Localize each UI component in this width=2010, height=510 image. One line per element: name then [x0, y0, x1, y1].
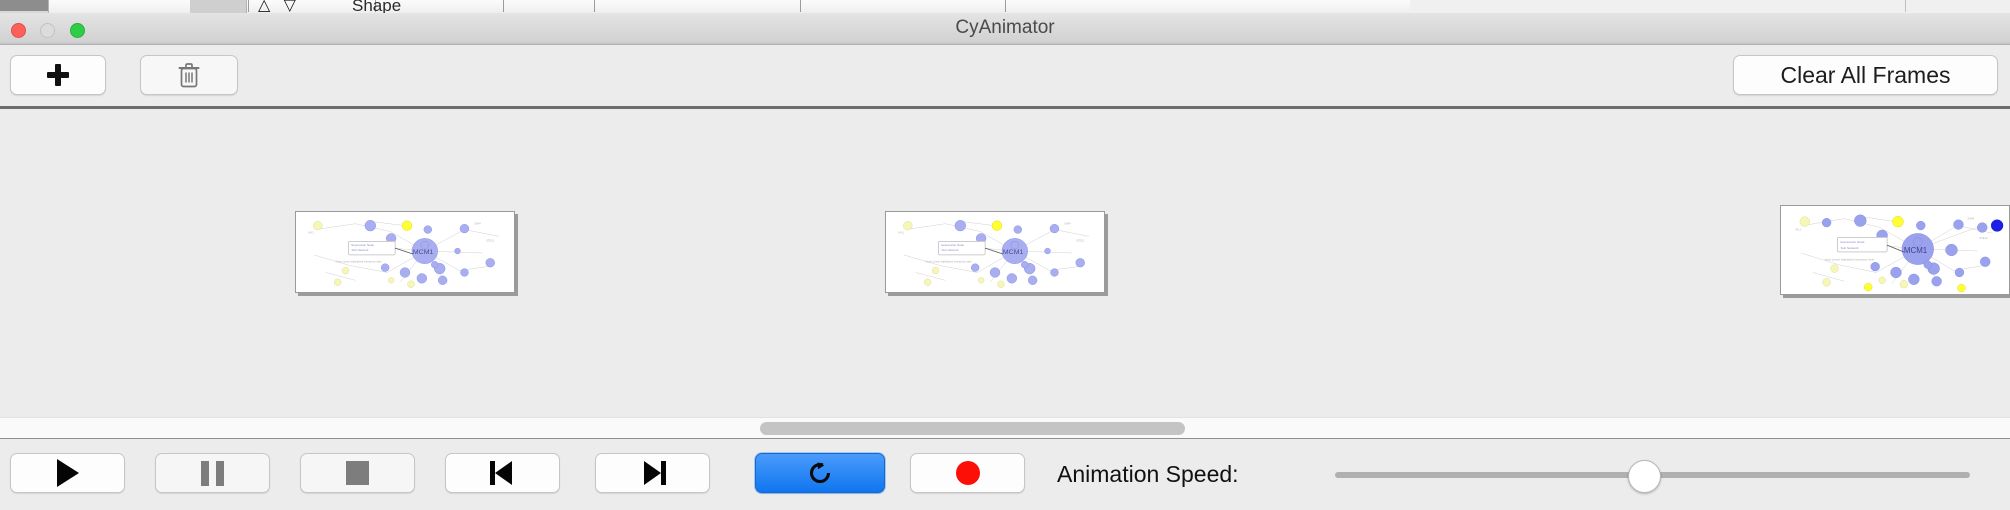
svg-text:STE12: STE12 — [1979, 236, 1988, 240]
skip-forward-button[interactable] — [595, 453, 710, 493]
skip-back-button[interactable] — [445, 453, 560, 493]
svg-text:MCM1: MCM1 — [1904, 246, 1927, 255]
background-dark-patch — [0, 0, 48, 11]
background-right-area — [1410, 0, 2010, 13]
svg-text:MCM1: MCM1 — [1003, 249, 1024, 256]
svg-text:SWI4: SWI4 — [474, 222, 481, 226]
add-frame-button[interactable] — [10, 55, 106, 95]
record-icon — [956, 461, 980, 485]
svg-text:SWI4: SWI4 — [1967, 217, 1974, 221]
svg-text:YAL1: YAL1 — [1795, 227, 1802, 231]
frame-thumbnail[interactable]: Expression Node Sub Network MCM1 Node cl… — [295, 211, 515, 293]
background-divider-4 — [594, 0, 595, 12]
svg-text:YAL1: YAL1 — [308, 230, 315, 234]
frame-thumbnail[interactable]: Expression Node Sub Network MCM1 Node cl… — [1780, 205, 2010, 295]
network-graph-preview: Expression Node Sub Network MCM1 Node cl… — [886, 212, 1104, 292]
pause-button[interactable] — [155, 453, 270, 493]
svg-text:Node cluster highlighted inter: Node cluster highlighted interaction dat… — [336, 260, 382, 264]
network-graph-preview: Expression Node Sub Network MCM1 Node cl… — [296, 212, 514, 292]
clear-all-frames-button[interactable]: Clear All Frames — [1733, 55, 1998, 95]
svg-text:Expression Node: Expression Node — [351, 243, 374, 247]
timeline-scrollbar-thumb[interactable] — [760, 422, 1185, 435]
animation-speed-label: Animation Speed: — [1057, 461, 1239, 488]
loop-icon — [806, 459, 834, 487]
network-graph-preview: Expression Node Sub Network MCM1 Node cl… — [1781, 206, 2009, 294]
background-window: △ ▽ Shape — [0, 0, 2010, 13]
delete-frame-button[interactable] — [140, 55, 238, 95]
svg-text:Expression Node: Expression Node — [941, 243, 964, 247]
svg-text:Expression Node: Expression Node — [1840, 240, 1864, 244]
pause-icon — [201, 461, 224, 486]
svg-text:YAL1: YAL1 — [898, 230, 905, 234]
trash-icon — [178, 62, 200, 88]
background-window-label: Shape — [352, 0, 401, 13]
svg-text:Sub Network: Sub Network — [351, 248, 368, 252]
background-divider-1 — [248, 0, 249, 12]
svg-text:STE12: STE12 — [1076, 238, 1084, 242]
loop-button[interactable] — [755, 453, 885, 493]
background-divider-7 — [1905, 0, 1906, 12]
svg-text:SWI4: SWI4 — [1064, 222, 1071, 226]
cyanimator-window: △ ▽ Shape CyAnimator Clear All Frames — [0, 0, 2010, 510]
background-divider-3 — [503, 0, 504, 12]
background-divider-5 — [800, 0, 801, 12]
svg-text:Node cluster highlighted inter: Node cluster highlighted interaction dat… — [1825, 258, 1875, 262]
play-icon — [57, 459, 79, 487]
svg-text:Node cluster highlighted inter: Node cluster highlighted interaction dat… — [926, 260, 972, 264]
timeline-scrollbar[interactable] — [0, 417, 2010, 439]
toolbar: Clear All Frames — [0, 45, 2010, 109]
animation-speed-slider-thumb[interactable] — [1628, 460, 1661, 493]
stop-button[interactable] — [300, 453, 415, 493]
background-tab-patch-2 — [190, 0, 247, 13]
svg-text:MCM1: MCM1 — [413, 249, 434, 256]
transport-bar: Animation Speed: — [0, 440, 2010, 510]
background-divider-6 — [1005, 0, 1006, 12]
svg-text:Sub Network: Sub Network — [941, 248, 958, 252]
frame-thumbnail[interactable]: Expression Node Sub Network MCM1 Node cl… — [885, 211, 1105, 293]
skip-back-icon — [490, 460, 516, 486]
timeline-panel[interactable]: Expression Node Sub Network MCM1 Node cl… — [0, 109, 2010, 417]
play-button[interactable] — [10, 453, 125, 493]
page-title: CyAnimator — [0, 17, 2010, 39]
plus-icon — [47, 64, 69, 86]
skip-forward-icon — [640, 460, 666, 486]
title-bar[interactable]: CyAnimator — [0, 13, 2010, 45]
svg-text:STE12: STE12 — [486, 238, 494, 242]
stop-icon — [346, 461, 369, 485]
record-button[interactable] — [910, 453, 1025, 493]
svg-text:Sub Network: Sub Network — [1840, 246, 1859, 250]
